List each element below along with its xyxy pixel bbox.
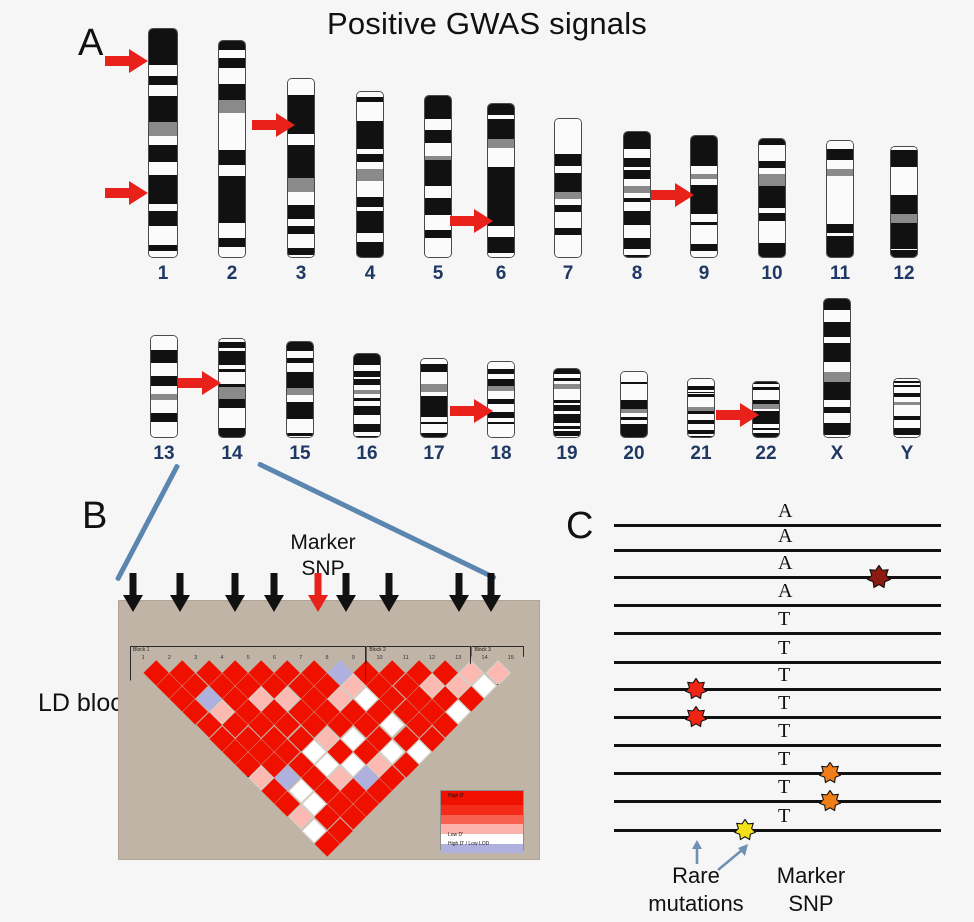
chromosome-band	[827, 224, 853, 233]
allele-letter: A	[778, 580, 792, 603]
chromosome-band	[287, 419, 313, 426]
chromosome-band	[357, 181, 383, 192]
chromosome-ideogram-17	[420, 358, 448, 438]
chromosome-band	[488, 237, 514, 246]
chromosome-band	[425, 230, 451, 238]
chromosome-band	[425, 186, 451, 198]
chromosome-band	[488, 196, 514, 206]
chromosome-label-13: 13	[153, 443, 174, 465]
chromosome-band	[357, 121, 383, 128]
chromosome-label-2: 2	[227, 263, 238, 285]
chromosome-6	[487, 103, 515, 258]
chromosome-band	[624, 203, 650, 211]
chromosome-ideogram-16	[353, 353, 381, 438]
chromosome-band	[219, 247, 245, 257]
ld-snp-number: 10	[366, 655, 392, 661]
snp-arrow-2	[169, 573, 191, 613]
chromosome-band	[288, 248, 314, 255]
red-arrow-right-icon	[252, 112, 296, 138]
chromosome-band	[759, 148, 785, 155]
ld-snp-number: 15	[498, 655, 524, 661]
chromosome-band	[555, 192, 581, 199]
chromosome-band	[287, 381, 313, 388]
ld-block-name-1: Block 1	[133, 647, 149, 653]
chromosome-12	[890, 146, 918, 258]
chromosome-band	[219, 41, 245, 50]
chromosome-band	[827, 236, 853, 245]
chromosome-band	[219, 372, 245, 379]
chromosome-band	[219, 123, 245, 134]
chromosome-band	[288, 255, 314, 257]
gwas-signal-arrow-chr1	[105, 180, 149, 206]
chromosome-band	[149, 192, 177, 204]
ld-snp-number: 9	[340, 655, 366, 661]
chromosome-label-21: 21	[690, 443, 711, 465]
allele-letter: T	[778, 692, 790, 715]
chromosome-band	[488, 253, 514, 257]
chromosome-ideogram-21	[687, 378, 715, 438]
chromosome-band	[219, 150, 245, 165]
haplotype-line	[614, 772, 941, 775]
chromosome-band	[824, 322, 850, 329]
chromosome-band	[149, 251, 177, 257]
gwas-signal-arrow-chr22	[716, 402, 760, 428]
black-arrow-down-icon	[122, 573, 144, 613]
chromosome-band	[824, 362, 850, 372]
chromosome-band	[149, 29, 177, 39]
chromosome-band	[149, 175, 177, 192]
chromosome-band	[555, 144, 581, 154]
chromosome-ideogram-3	[287, 78, 315, 258]
chromosome-band	[891, 180, 917, 187]
chromosome-band	[425, 238, 451, 246]
chromosome-band	[891, 195, 917, 203]
chromosome-label-11: 11	[830, 263, 850, 285]
chromosome-band	[624, 158, 650, 167]
marker-snp-arrow	[307, 573, 329, 613]
chromosome-ideogram-8	[623, 131, 651, 258]
chromosome-label-1: 1	[158, 263, 169, 285]
chromosome-label-19: 19	[556, 443, 577, 465]
chromosome-band	[891, 187, 917, 195]
chromosome-band	[827, 186, 853, 193]
chromosome-band	[288, 219, 314, 226]
chromosome-ideogram-4	[356, 91, 384, 258]
chromosome-band	[554, 436, 580, 437]
chromosome-band	[555, 235, 581, 245]
gwas-signal-arrow-chr3	[252, 112, 296, 138]
chromosome-band	[691, 251, 717, 257]
marker-snp-pointer-arrow	[716, 843, 750, 871]
chromosome-band	[827, 204, 853, 212]
chromosome-label-X: X	[831, 443, 844, 465]
chromosome-band	[219, 428, 245, 436]
chromosome-band	[425, 143, 451, 155]
chromosome-band	[759, 213, 785, 222]
snp-arrow-8	[448, 573, 470, 613]
chromosome-band	[425, 130, 451, 139]
red-arrow-right-icon	[716, 402, 760, 428]
gwas-signal-arrow-chr9	[651, 182, 695, 208]
chromosome-band	[891, 255, 917, 257]
chromosome-band	[288, 192, 314, 201]
snp-arrow-3	[224, 573, 246, 613]
chromosome-band	[288, 212, 314, 219]
chromosome-band	[488, 246, 514, 253]
chromosome-band	[219, 50, 245, 58]
chromosome-label-7: 7	[563, 263, 574, 285]
chromosome-band	[824, 400, 850, 407]
chromosome-band	[488, 186, 514, 196]
chromosome-band	[357, 169, 383, 180]
chromosome-band	[759, 168, 785, 174]
chromosome-label-6: 6	[496, 263, 507, 285]
chromosome-band	[691, 166, 717, 174]
haplotype-line	[614, 829, 941, 832]
chromosome-band	[287, 402, 313, 409]
gwas-signal-arrow-chr6	[450, 208, 494, 234]
haplotype-line	[614, 744, 941, 747]
chromosome-label-Y: Y	[901, 443, 914, 465]
chromosome-16	[353, 353, 381, 438]
chromosome-band	[555, 182, 581, 192]
chromosome-band	[287, 395, 313, 402]
chromosome-13	[150, 335, 178, 438]
chromosome-label-3: 3	[296, 263, 307, 285]
chromosome-band	[219, 435, 245, 437]
red-arrow-right-icon	[105, 48, 149, 74]
chromosome-band	[149, 39, 177, 49]
chromosome-band	[149, 85, 177, 96]
chromosome-band	[555, 212, 581, 221]
chromosome-band	[219, 176, 245, 190]
chromosome-band	[149, 127, 177, 135]
panel-b-letter: B	[82, 495, 107, 538]
chromosome-band	[759, 253, 785, 257]
chromosome-band	[219, 84, 245, 100]
chromosome-11	[826, 140, 854, 258]
snp-arrow-4	[263, 573, 285, 613]
chromosome-band	[824, 329, 850, 337]
chromosome-band	[288, 145, 314, 155]
rare-mutations-pointer-arrow	[689, 840, 705, 864]
panel-a-letter: A	[78, 22, 103, 65]
chromosome-label-14: 14	[221, 443, 242, 465]
chromosome-band	[357, 249, 383, 257]
chromosome-label-20: 20	[623, 443, 644, 465]
chromosome-band	[624, 215, 650, 225]
chromosome-band	[151, 432, 177, 437]
chromosome-17	[420, 358, 448, 438]
chromosome-band	[624, 255, 650, 257]
figure-canvas: Positive GWAS signals A 1234567891011121…	[0, 0, 974, 922]
chromosome-band	[488, 119, 514, 129]
chromosome-band	[357, 102, 383, 111]
chromosome-band	[149, 238, 177, 245]
chromosome-band	[287, 426, 313, 433]
chromosome-ideogram-2	[218, 40, 246, 258]
ld-snp-number: 1	[130, 655, 156, 661]
chromosome-band	[555, 166, 581, 174]
chromosome-band	[357, 162, 383, 169]
chromosome-band	[555, 205, 581, 213]
chromosome-label-15: 15	[289, 443, 310, 465]
chromosome-ideogram-1	[148, 28, 178, 258]
chromosome-band	[759, 161, 785, 168]
chromosome-label-12: 12	[893, 263, 914, 285]
ld-snp-number: 12	[419, 655, 445, 661]
chromosome-band	[624, 170, 650, 178]
snp-arrow-1	[122, 573, 144, 613]
chromosome-ideogram-19	[553, 368, 581, 438]
chromosome-1	[148, 28, 178, 258]
chromosome-band	[691, 157, 717, 166]
chromosome-band	[827, 249, 853, 257]
chromosome-band	[555, 228, 581, 235]
chromosome-band	[219, 393, 245, 400]
red-arrow-right-icon	[651, 182, 695, 208]
allele-letter: T	[778, 748, 790, 771]
chromosome-4	[356, 91, 384, 258]
star-icon	[685, 678, 707, 700]
chromosome-band	[488, 148, 514, 158]
chromosome-band	[824, 391, 850, 400]
chromosome-band	[759, 227, 785, 234]
haplotype-line	[614, 688, 941, 691]
star-icon	[685, 706, 707, 728]
red-arrow-right-icon	[450, 398, 494, 424]
chromosome-band	[621, 434, 647, 437]
ld-snp-number: 13	[445, 655, 471, 661]
mutation-star	[819, 790, 841, 817]
chromosome-band	[759, 194, 785, 201]
red-arrow-right-icon	[450, 208, 494, 234]
chromosome-band	[354, 436, 380, 437]
chromosome-band	[691, 236, 717, 244]
chromosome-band	[488, 139, 514, 149]
chromosome-band	[149, 76, 177, 86]
ld-snp-number: 6	[261, 655, 287, 661]
figure-title: Positive GWAS signals	[0, 6, 974, 42]
black-arrow-down-icon	[448, 573, 470, 613]
chromosome-band	[691, 244, 717, 251]
chromosome-ideogram-13	[150, 335, 178, 438]
chromosome-band	[219, 165, 245, 177]
chromosome-band	[357, 128, 383, 140]
chromosome-band	[624, 140, 650, 149]
chromosome-band	[624, 132, 650, 140]
chromosome-band	[891, 150, 917, 157]
chromosome-band	[219, 420, 245, 427]
chromosome-band	[555, 173, 581, 182]
chromosome-band	[219, 134, 245, 150]
chromosome-band	[149, 49, 177, 65]
chromosome-band	[287, 388, 313, 395]
marker-snp-line1: Marker	[756, 862, 866, 890]
chromosome-band	[824, 310, 850, 317]
chromosome-band	[151, 342, 177, 350]
chromosome-label-18: 18	[490, 443, 511, 465]
star-icon	[819, 762, 841, 784]
chromosome-band	[827, 160, 853, 168]
chromosome-ideogram-X	[823, 298, 851, 438]
snp-arrow-9	[480, 573, 502, 613]
chromosome-band	[357, 140, 383, 149]
haplotype-line	[614, 632, 941, 635]
mutation-star	[867, 565, 891, 594]
chromosome-band	[827, 154, 853, 161]
chromosome-band	[691, 214, 717, 222]
chromosome-label-10: 10	[761, 263, 782, 285]
chromosome-ideogram-5	[424, 95, 452, 258]
chromosome-label-4: 4	[365, 263, 376, 285]
ld-legend-blue-label: High D' / Low LOD	[448, 841, 489, 847]
black-arrow-down-icon	[480, 573, 502, 613]
chromosome-label-9: 9	[699, 263, 710, 285]
chromosome-band	[759, 201, 785, 208]
connector-line-chr13	[115, 463, 180, 581]
chromosome-label-8: 8	[632, 263, 643, 285]
ld-legend-low-label: Low D'	[448, 832, 463, 838]
ld-legend-swatch	[441, 805, 523, 815]
chromosome-band	[753, 436, 779, 437]
chromosome-band	[357, 242, 383, 249]
mutation-star	[734, 819, 756, 846]
ld-snp-number: 7	[288, 655, 314, 661]
chromosome-band	[219, 202, 245, 212]
allele-letter: A	[778, 500, 792, 523]
chromosome-band	[219, 212, 245, 223]
chromosome-band	[149, 65, 177, 76]
chromosome-band	[488, 159, 514, 168]
star-icon	[867, 565, 891, 589]
chromosome-8	[623, 131, 651, 258]
gwas-signal-arrow-chr14	[178, 370, 222, 396]
star-icon	[734, 819, 756, 841]
chromosome-label-22: 22	[755, 443, 776, 465]
ld-snp-number: 14	[471, 655, 497, 661]
chromosome-Y	[893, 378, 921, 438]
chromosome-2	[218, 40, 246, 258]
ld-snp-number: 11	[393, 655, 419, 661]
haplotype-line	[614, 716, 941, 719]
allele-letter: T	[778, 805, 790, 828]
chromosome-band	[488, 167, 514, 178]
chromosome-3	[287, 78, 315, 258]
allele-letter: T	[778, 776, 790, 799]
chromosome-band	[691, 225, 717, 232]
chromosome-band	[219, 191, 245, 202]
chromosome-band	[219, 358, 245, 365]
ld-snp-number: 4	[209, 655, 235, 661]
chromosome-band	[149, 136, 177, 145]
haplotype-line	[614, 576, 941, 579]
chromosome-band	[425, 198, 451, 210]
chromosome-band	[488, 178, 514, 185]
chromosome-14	[218, 338, 246, 438]
chromosome-band	[824, 413, 850, 422]
chromosome-ideogram-11	[826, 140, 854, 258]
chromosome-band	[219, 238, 245, 247]
haplotype-line	[614, 604, 941, 607]
chromosome-5	[424, 95, 452, 258]
chromosome-15	[286, 341, 314, 438]
chromosome-band	[425, 166, 451, 173]
chromosome-ideogram-6	[487, 103, 515, 258]
chromosome-band	[425, 173, 451, 180]
chromosome-band	[149, 96, 177, 109]
star-icon	[819, 790, 841, 812]
chromosome-band	[824, 353, 850, 362]
chromosome-band	[357, 233, 383, 241]
chromosome-band	[624, 186, 650, 193]
chromosome-21	[687, 378, 715, 438]
chromosome-label-17: 17	[423, 443, 444, 465]
chromosome-band	[219, 100, 245, 112]
chromosome-band	[149, 162, 177, 175]
gwas-signal-arrow-chr1	[105, 48, 149, 74]
chromosome-band	[288, 205, 314, 212]
mutation-star	[819, 762, 841, 789]
chromosome-19	[553, 368, 581, 438]
chromosome-20	[620, 371, 648, 438]
chromosome-band	[357, 211, 383, 219]
chromosome-band	[624, 149, 650, 158]
chromosome-band	[287, 436, 313, 437]
chromosome-band	[149, 145, 177, 163]
chromosome-band	[219, 351, 245, 358]
chromosome-band	[488, 104, 514, 115]
chromosome-band	[488, 129, 514, 139]
chromosome-label-16: 16	[356, 443, 377, 465]
allele-letter: A	[778, 552, 792, 575]
snp-arrow-7	[378, 573, 400, 613]
ld-block-name-3: Block 3	[474, 647, 490, 653]
marker-snp-line2: SNP	[756, 890, 866, 918]
allele-letter: T	[778, 637, 790, 660]
rare-mutations-line2: mutations	[636, 890, 756, 918]
red-arrow-right-icon	[105, 180, 149, 206]
chromosome-band	[824, 343, 850, 353]
chromosome-band	[288, 95, 314, 105]
chromosome-ideogram-14	[218, 338, 246, 438]
chromosome-band	[357, 111, 383, 121]
chromosome-band	[688, 436, 714, 437]
allele-letter: T	[778, 664, 790, 687]
chromosome-band	[357, 224, 383, 234]
chromosome-band	[555, 255, 581, 257]
chromosome-band	[824, 423, 850, 431]
chromosome-band	[149, 109, 177, 121]
ld-legend-swatch	[441, 815, 523, 824]
chromosome-band	[555, 119, 581, 129]
chromosome-band	[357, 154, 383, 162]
chromosome-band	[824, 372, 850, 382]
ld-snp-number: 3	[183, 655, 209, 661]
chromosome-band	[891, 167, 917, 174]
mutation-star	[685, 678, 707, 705]
chromosome-band	[824, 435, 850, 437]
chromosome-10	[758, 138, 786, 258]
ld-snp-number: 8	[314, 655, 340, 661]
ld-legend-high-label: High D'	[448, 793, 464, 799]
chromosome-band	[219, 223, 245, 238]
chromosome-ideogram-20	[620, 371, 648, 438]
chromosome-band	[894, 435, 920, 437]
black-arrow-down-icon	[335, 573, 357, 613]
chromosome-ideogram-15	[286, 341, 314, 438]
chromosome-7	[554, 118, 582, 258]
